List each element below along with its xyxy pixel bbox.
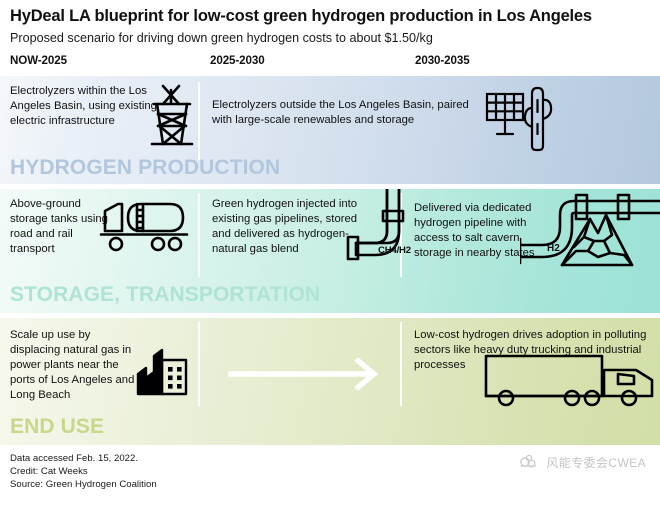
pipeline-icon-label: CH4/H2 bbox=[378, 245, 411, 256]
watermark: 风能专委会CWEA bbox=[518, 453, 646, 471]
cloud-icon bbox=[518, 453, 540, 471]
column-divider bbox=[198, 82, 200, 160]
cell-text-power-plants: Scale up use by displacing natural gas i… bbox=[10, 328, 140, 403]
timeline-period-now-2025: NOW-2025 bbox=[10, 54, 67, 67]
pipeline-icon bbox=[340, 189, 412, 274]
band-label-hydrogen-production: HYDROGEN PRODUCTION bbox=[10, 156, 280, 180]
tanker-truck-icon bbox=[97, 199, 189, 260]
column-divider bbox=[198, 322, 200, 406]
band-end-use: Scale up use by displacing natural gas i… bbox=[0, 318, 660, 445]
footer-source: Source: Green Hydrogen Coalition bbox=[10, 479, 650, 492]
band-label-end-use: END USE bbox=[10, 415, 104, 439]
header: HyDeal LA blueprint for low-cost green h… bbox=[0, 0, 660, 46]
page-title: HyDeal LA blueprint for low-cost green h… bbox=[10, 7, 650, 26]
timeline-period-2025-2030: 2025-2030 bbox=[210, 54, 265, 67]
factory-icon bbox=[136, 340, 188, 403]
footer: Data accessed Feb. 15, 2022. Credit: Cat… bbox=[0, 445, 660, 491]
cell-text-above-ground-tanks: Above-ground storage tanks using road an… bbox=[10, 197, 110, 257]
right-arrow-icon bbox=[228, 358, 380, 395]
transmission-tower-icon bbox=[146, 82, 198, 155]
timeline-period-2030-2035: 2030-2035 bbox=[415, 54, 470, 67]
infographic-root: HyDeal LA blueprint for low-cost green h… bbox=[0, 0, 660, 508]
column-divider bbox=[400, 322, 402, 406]
salt-cavern-pipeline-icon bbox=[520, 189, 660, 282]
semi-truck-icon bbox=[484, 354, 656, 415]
band-label-storage-transportation: STORAGE, TRANSPORTATION bbox=[10, 283, 320, 307]
watermark-text: 风能专委会CWEA bbox=[546, 454, 646, 471]
band-hydrogen-production: Electrolyzers within the Los Angeles Bas… bbox=[0, 76, 660, 184]
timeline-header: NOW-2025 2025-2030 2030-2035 bbox=[0, 54, 660, 76]
column-divider bbox=[198, 193, 200, 277]
page-subtitle: Proposed scenario for driving down green… bbox=[10, 31, 650, 46]
solar-panel-cactus-icon bbox=[483, 84, 563, 161]
band-storage-transportation: Above-ground storage tanks using road an… bbox=[0, 189, 660, 313]
cell-text-electrolyzers-outside-basin: Electrolyzers outside the Los Angeles Ba… bbox=[212, 98, 484, 128]
cavern-pipeline-icon-label: H2 bbox=[547, 243, 560, 254]
